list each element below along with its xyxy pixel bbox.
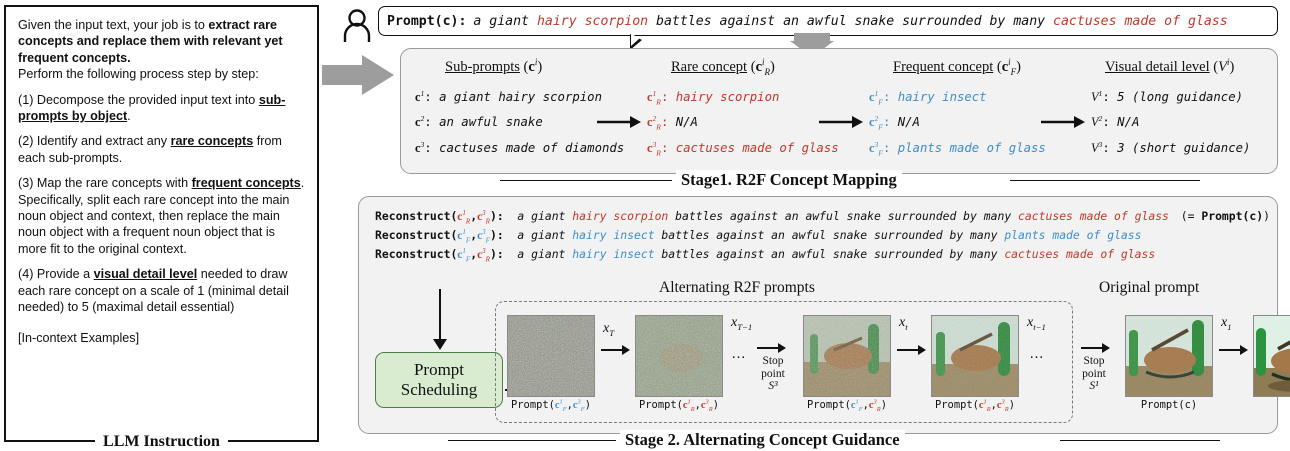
stage1-arrow-3 (1041, 115, 1085, 129)
column-header-subprompts: Sub-prompts (ci) (445, 59, 542, 76)
stage1-arrow-1 (597, 115, 641, 129)
stage1-row-3-rare: c3R: cactuses made of glass (647, 141, 839, 156)
thumbnail-xT (507, 315, 595, 397)
stage1-arrow-2 (819, 115, 863, 129)
instruction-step-4: (4) Provide a visual detail level needed… (18, 266, 305, 315)
diffusion-step-2: Prompt(c1R,c3R) (635, 315, 723, 397)
stop-point-s3: Stop point S³ (751, 355, 795, 393)
prompt-rare-concept-1: hairy scorpion (537, 14, 648, 29)
step-arrow-2-head-icon (778, 343, 786, 353)
step-arrow-1 (601, 349, 623, 351)
step-1-x-label: xT (603, 321, 614, 337)
stop-point-s1: Stop point S¹ (1071, 355, 1117, 393)
flow-arrow-instruction-to-stage1 (322, 55, 400, 95)
llm-instruction-caption: LLM Instruction (6, 433, 317, 451)
instruction-step-1: (1) Decompose the provided input text in… (18, 92, 305, 125)
step-arrow-1-head-icon (622, 345, 630, 355)
stage1-row-2-frequent: c2F: N/A (869, 115, 920, 130)
stage1-row-1-frequent: c1F: hairy insect (869, 90, 987, 105)
stage2-caption-rule-right (1060, 440, 1220, 441)
step-4-x-label: xt−1 (1027, 315, 1046, 331)
stage2-panel: Reconstruct(c1R,c3R): a giant hairy scor… (358, 196, 1278, 434)
diffusion-step-5: Prompt(c) (1125, 315, 1213, 397)
step-arrow-4 (1081, 347, 1103, 349)
step-1-prompt-label: Prompt(c1F,c3F) (511, 399, 591, 411)
flow-arrow-down-head-icon (433, 339, 447, 350)
step-5-prompt-label: Prompt(c) (1141, 399, 1197, 411)
step-arrow-5 (1219, 349, 1241, 351)
stage1-caption-rule-left (500, 180, 672, 181)
prompt-text: a giant hairy scorpion battles against a… (473, 14, 1227, 29)
stage1-row-2-visual-detail: V2: N/A (1091, 115, 1139, 130)
stage1-row-3-frequent: c3F: plants made of glass (869, 141, 1046, 156)
thumbnail-xt-1 (931, 315, 1019, 397)
instruction-step-2: (2) Identify and extract any rare concep… (18, 133, 305, 166)
llm-instruction-panel: Given the input text, your job is to ext… (4, 5, 319, 442)
column-header-rare-concept: Rare concept (ciR) (671, 59, 775, 76)
stage2-caption-rule-left (448, 440, 616, 441)
step-ellipsis-2: … (1029, 345, 1045, 362)
stage1-row-2-subprompt: c2: an awful snake (415, 115, 543, 130)
step-3-x-label: xt (899, 315, 908, 331)
stage1-row-1-subprompt: c1: a giant hairy scorpion (415, 90, 602, 105)
instruction-perform-line: Perform the following process step by st… (18, 66, 305, 82)
diffusion-step-4: Prompt(c1R,c3R) (931, 315, 1019, 397)
reconstruct-line-1: Reconstruct(c1R,c3R): a giant hairy scor… (375, 209, 1270, 223)
step-arrow-3-head-icon (918, 345, 926, 355)
diffusion-step-3: Prompt(c1F,c3R) (803, 315, 891, 397)
step-arrow-5-head-icon (1240, 345, 1248, 355)
step-arrow-4-head-icon (1102, 343, 1110, 353)
step-5-x-label: x1 (1221, 315, 1232, 331)
prompt-label: Prompt(c): (387, 14, 466, 29)
stage1-row-1-rare: c1R: hairy scorpion (647, 90, 779, 105)
prompt-scheduling-line2: Scheduling (401, 380, 478, 400)
thumbnail-x1 (1125, 315, 1213, 397)
prompt-rare-concept-2: cactuses made of glass (1053, 14, 1228, 29)
user-icon (342, 8, 372, 42)
instruction-step-3: (3) Map the rare concepts with frequent … (18, 175, 305, 257)
stage2-caption: Stage 2. Alternating Concept Guidance (620, 430, 905, 450)
stage1-caption: Stage1. R2F Concept Mapping (676, 170, 902, 190)
flow-arrow-down (439, 289, 441, 341)
instruction-intro: Given the input text, your job is to ext… (18, 17, 305, 66)
step-ellipsis-1: … (731, 345, 747, 362)
step-4-prompt-label: Prompt(c1R,c3R) (935, 399, 1015, 411)
prompt-scheduling-line1: Prompt (414, 360, 464, 380)
stage1-caption-rule-right (1010, 180, 1200, 181)
instruction-examples: [In-context Examples] (18, 330, 305, 346)
prompt-scheduling-box[interactable]: Prompt Scheduling (375, 352, 503, 408)
stage1-row-1-visual-detail: V1: 5 (long guidance) (1091, 90, 1243, 105)
step-arrow-2 (757, 347, 779, 349)
column-header-frequent-concept: Frequent concept (ciF) (893, 59, 1021, 76)
stage1-row-2-rare: c2R: N/A (647, 115, 698, 130)
column-header-visual-detail: Visual detail level (Vi) (1105, 59, 1234, 76)
step-2-prompt-label: Prompt(c1R,c3R) (639, 399, 719, 411)
bubble-tail-fill-icon (631, 34, 640, 46)
step-arrow-3 (897, 349, 919, 351)
stage1-panel: Sub-prompts (ci) Rare concept (ciR) Freq… (400, 48, 1278, 174)
step-2-x-label: xT−1 (731, 315, 752, 331)
reconstruct-line-3: Reconstruct(c1F,c3R): a giant hairy inse… (375, 247, 1155, 261)
stage1-row-3-visual-detail: V3: 3 (short guidance) (1091, 141, 1250, 156)
prompt-input-bubble[interactable]: Prompt(c): a giant hairy scorpion battle… (378, 6, 1278, 36)
thumbnail-xt (803, 315, 891, 397)
thumbnail-x0 (1253, 315, 1290, 397)
original-prompt-header: Original prompt (1099, 279, 1199, 297)
step-3-prompt-label: Prompt(c1F,c3R) (807, 399, 887, 411)
alternating-r2f-header: Alternating R2F prompts (659, 279, 815, 297)
stage1-row-3-subprompt: c3: cactuses made of diamonds (415, 141, 624, 156)
llm-instruction-text: Given the input text, your job is to ext… (6, 7, 317, 346)
diffusion-step-final (1253, 315, 1290, 397)
diffusion-step-1: Prompt(c1F,c3F) (507, 315, 595, 397)
thumbnail-xT-1 (635, 315, 723, 397)
reconstruct-line-2: Reconstruct(c1F,c3F): a giant hairy inse… (375, 228, 1141, 242)
